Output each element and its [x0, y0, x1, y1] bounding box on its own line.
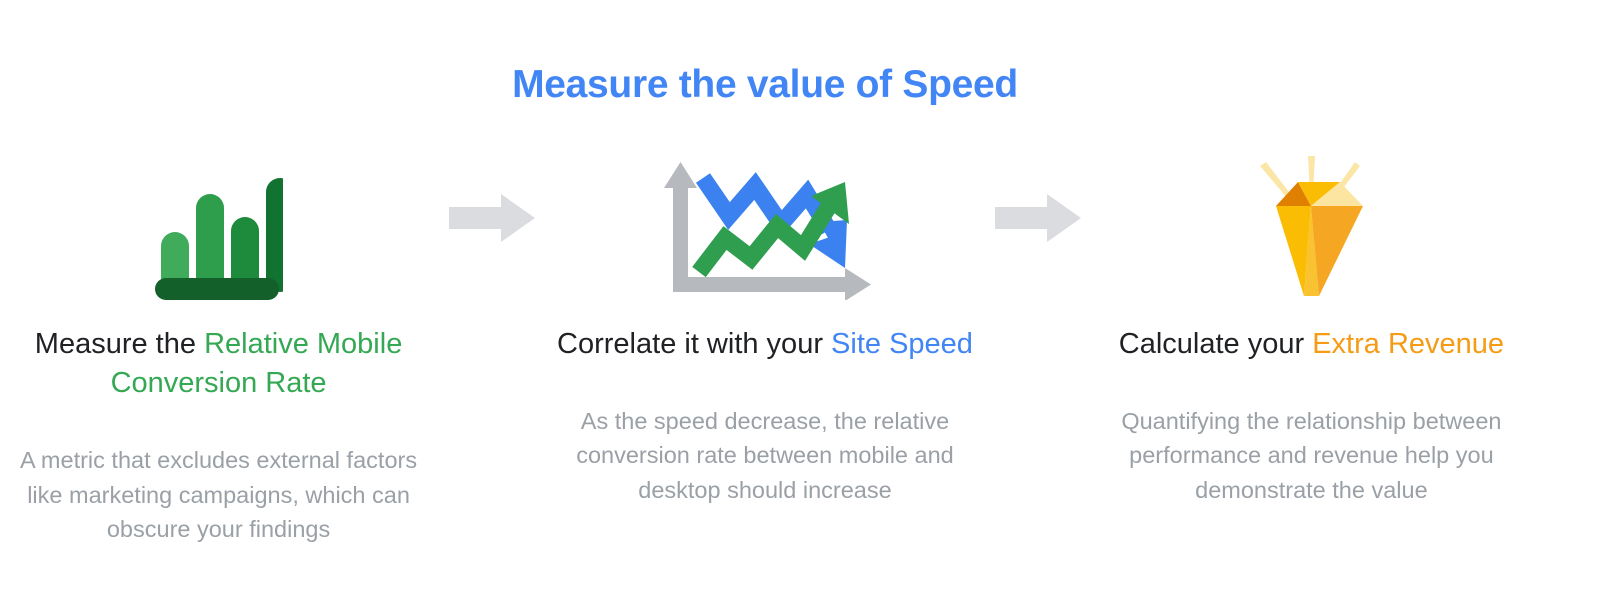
- step-card-calculate: Calculate your Extra Revenue Quantifying…: [1093, 150, 1530, 507]
- arrow-right-icon: [449, 194, 535, 242]
- step-card-correlate: Correlate it with your Site Speed As the…: [546, 150, 983, 507]
- infographic-root: Measure the value of Speed Measure the R…: [0, 0, 1600, 612]
- step-2-icon-slot: [659, 150, 871, 300]
- arrow-right-icon: [995, 194, 1081, 242]
- step-2-heading-highlight: Site Speed: [831, 328, 973, 360]
- step-3-heading: Calculate your Extra Revenue: [1119, 325, 1504, 364]
- step-1-heading-plain: Measure the: [35, 328, 204, 360]
- step-3-heading-plain: Calculate your: [1119, 328, 1312, 360]
- step-2-body: As the speed decrease, the relative conv…: [550, 404, 980, 507]
- page-title: Measure the value of Speed: [0, 62, 1530, 109]
- connector-2: [984, 150, 1093, 300]
- step-card-measure: Measure the Relative Mobile Conversion R…: [0, 150, 437, 546]
- connector-1: [437, 150, 546, 300]
- step-3-icon-slot: [1236, 150, 1386, 300]
- diamond-gem-icon: [1236, 154, 1386, 300]
- step-1-heading: Measure the Relative Mobile Conversion R…: [9, 325, 429, 403]
- step-3-body: Quantifying the relationship between per…: [1096, 404, 1526, 507]
- steps-row: Measure the Relative Mobile Conversion R…: [0, 150, 1530, 546]
- bar-chart-icon: [155, 174, 283, 300]
- step-1-body: A metric that excludes external factors …: [4, 443, 434, 546]
- step-2-heading: Correlate it with your Site Speed: [557, 325, 973, 364]
- step-1-icon-slot: [155, 150, 283, 300]
- green-up-trend: [699, 206, 829, 272]
- step-2-heading-plain: Correlate it with your: [557, 328, 831, 360]
- step-3-heading-highlight: Extra Revenue: [1312, 328, 1504, 360]
- crossing-trend-lines-icon: [659, 160, 871, 300]
- facet-body-right: [1311, 206, 1363, 296]
